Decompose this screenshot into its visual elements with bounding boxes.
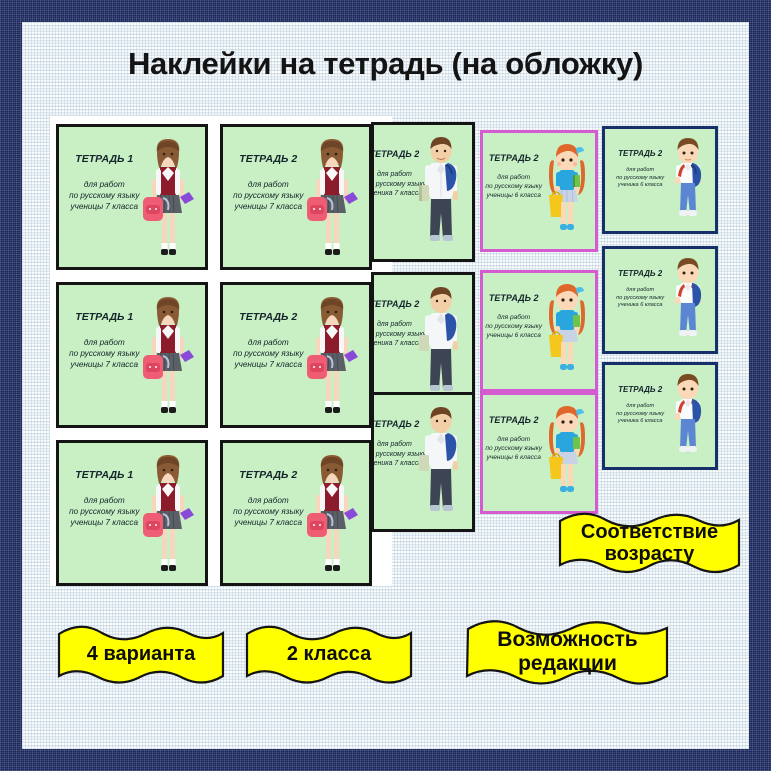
- card-subtext: для работ по русскому языку ученицы 7 кл…: [59, 337, 150, 370]
- card-text: ТЕТРАДЬ 2 для работ по русскому языку уч…: [223, 311, 314, 370]
- teen-boy-figure: [412, 401, 470, 527]
- card-header: ТЕТРАДЬ 2: [223, 311, 314, 323]
- card-text: ТЕТРАДЬ 1 для работ по русскому языку уч…: [59, 469, 150, 528]
- banner-variants[interactable]: 4 варианта: [56, 620, 226, 688]
- card-subtext: для работ по русскому языку ученицы 7 кл…: [59, 495, 150, 528]
- young-girl-figure: [543, 401, 591, 509]
- young-boy-figure: [665, 369, 711, 467]
- young-boy-figure: [665, 133, 711, 231]
- sticker-card[interactable]: ТЕТРАДЬ 2 для работ по русскому языку уч…: [602, 362, 718, 470]
- card-subtext: для работ по русскому языку ученицы 6 кл…: [480, 313, 548, 340]
- card-header: ТЕТРАДЬ 2: [480, 293, 548, 303]
- teen-girl-figure: [137, 451, 199, 581]
- sticker-card[interactable]: ТЕТРАДЬ 1 для работ по русскому языку уч…: [56, 124, 208, 270]
- card-header: ТЕТРАДЬ 1: [59, 469, 150, 481]
- page-title: Наклейки на тетрадь (на обложку): [22, 46, 749, 82]
- card-text: ТЕТРАДЬ 2 для работ по русскому языку уч…: [480, 153, 548, 200]
- sticker-card[interactable]: ТЕТРАДЬ 1 для работ по русскому языку уч…: [56, 440, 208, 586]
- sticker-card[interactable]: ТЕТРАДЬ 2 для работ по русскому языку уч…: [602, 246, 718, 354]
- teen-boy-figure: [412, 131, 470, 257]
- card-subtext: для работ по русскому языку ученицы 7 кл…: [59, 179, 150, 212]
- banner-label: 4 варианта: [87, 643, 195, 665]
- sticker-card[interactable]: ТЕТРАДЬ 2 для работ по русскому языку уч…: [480, 270, 598, 392]
- sticker-card[interactable]: ТЕТРАДЬ 2 для работ по русскому языку уч…: [371, 392, 475, 532]
- card-subtext: для работ по русскому языку ученицы 7 кл…: [223, 179, 314, 212]
- card-header: ТЕТРАДЬ 2: [223, 153, 314, 165]
- card-subtext: для работ по русскому языку ученицы 7 кл…: [223, 337, 314, 370]
- banner-label: Возможность редакции: [497, 628, 637, 675]
- banner-age-match[interactable]: Соответствие возрасту: [557, 507, 742, 579]
- poster-stage: Наклейки на тетрадь (на обложку) ТЕТРАДЬ…: [22, 22, 749, 749]
- card-subtext: для работ по русскому языку ученицы 7 кл…: [223, 495, 314, 528]
- sticker-card[interactable]: ТЕТРАДЬ 2 для работ по русскому языку уч…: [220, 282, 372, 428]
- banner-label: Соответствие возрасту: [581, 521, 718, 566]
- sticker-card[interactable]: ТЕТРАДЬ 2 для работ по русскому языку уч…: [371, 272, 475, 412]
- banner-classes[interactable]: 2 класса: [244, 620, 414, 688]
- sticker-card[interactable]: ТЕТРАДЬ 2 для работ по русскому языку уч…: [480, 130, 598, 252]
- card-text: ТЕТРАДЬ 1 для работ по русскому языку уч…: [59, 311, 150, 370]
- teen-girl-figure: [137, 135, 199, 265]
- card-text: ТЕТРАДЬ 1 для работ по русскому языку уч…: [59, 153, 150, 212]
- sticker-card[interactable]: ТЕТРАДЬ 2 для работ по русскому языку уч…: [220, 124, 372, 270]
- teen-girl-figure: [301, 451, 363, 581]
- sticker-card[interactable]: ТЕТРАДЬ 2 для работ по русскому языку уч…: [371, 122, 475, 262]
- card-header: ТЕТРАДЬ 2: [480, 415, 548, 425]
- card-header: ТЕТРАДЬ 2: [480, 153, 548, 163]
- card-text: ТЕТРАДЬ 2 для работ по русскому языку уч…: [480, 293, 548, 340]
- card-header: ТЕТРАДЬ 1: [59, 311, 150, 323]
- young-boy-figure: [665, 253, 711, 351]
- teen-girl-figure: [301, 293, 363, 423]
- sticker-card[interactable]: ТЕТРАДЬ 2 для работ по русскому языку уч…: [602, 126, 718, 234]
- teen-girl-figure: [301, 135, 363, 265]
- teen-girl-figure: [137, 293, 199, 423]
- card-text: ТЕТРАДЬ 2 для работ по русскому языку уч…: [223, 469, 314, 528]
- card-subtext: для работ по русскому языку ученицы 6 кл…: [480, 435, 548, 462]
- banner-editable[interactable]: Возможность редакции: [465, 614, 670, 690]
- card-subtext: для работ по русскому языку ученицы 6 кл…: [480, 173, 548, 200]
- card-header: ТЕТРАДЬ 2: [223, 469, 314, 481]
- teen-boy-figure: [412, 281, 470, 407]
- poster-root: Наклейки на тетрадь (на обложку) ТЕТРАДЬ…: [0, 0, 771, 771]
- card-header: ТЕТРАДЬ 1: [59, 153, 150, 165]
- sticker-card[interactable]: ТЕТРАДЬ 2 для работ по русскому языку уч…: [480, 392, 598, 514]
- sticker-card[interactable]: ТЕТРАДЬ 2 для работ по русскому языку уч…: [220, 440, 372, 586]
- card-text: ТЕТРАДЬ 2 для работ по русскому языку уч…: [480, 415, 548, 462]
- young-girl-figure: [543, 139, 591, 247]
- card-text: ТЕТРАДЬ 2 для работ по русскому языку уч…: [223, 153, 314, 212]
- banner-label: 2 класса: [287, 643, 371, 665]
- sticker-card[interactable]: ТЕТРАДЬ 1 для работ по русскому языку уч…: [56, 282, 208, 428]
- young-girl-figure: [543, 279, 591, 387]
